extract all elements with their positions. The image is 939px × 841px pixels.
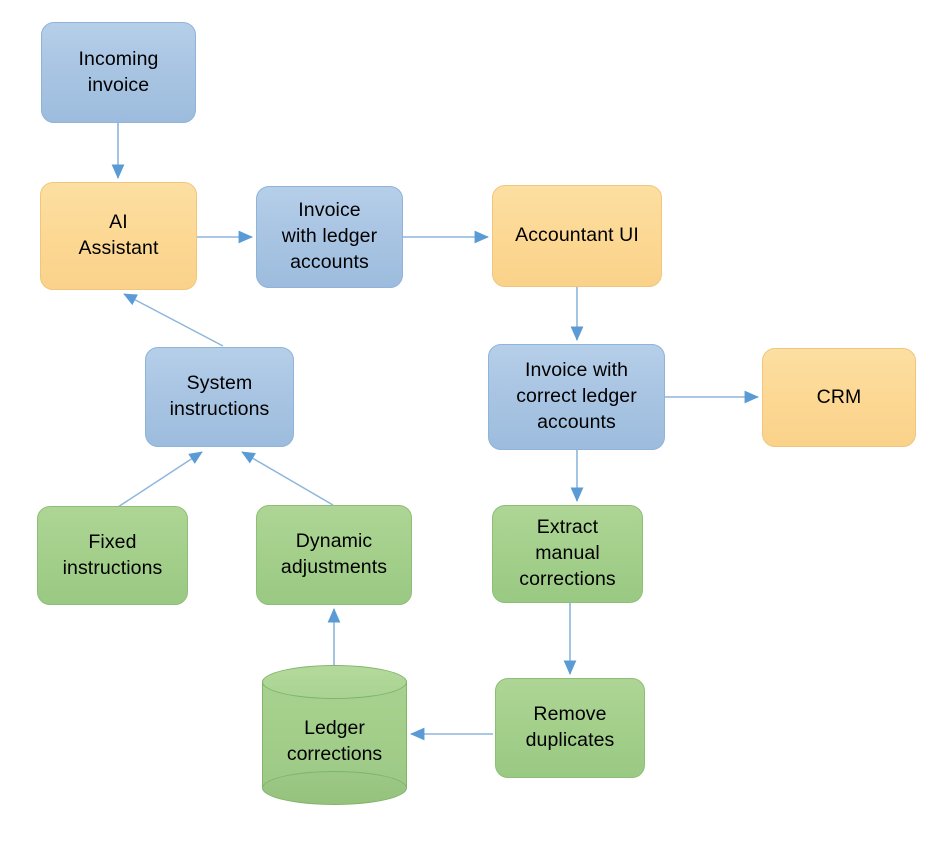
node-crm[interactable]: CRM — [762, 348, 916, 447]
flowchart-canvas: Incoming invoice AI Assistant Invoice wi… — [0, 0, 939, 841]
node-invoice-with-correct-ledger-accounts[interactable]: Invoice with correct ledger accounts — [488, 344, 665, 450]
node-ledger-corrections[interactable]: Ledger corrections — [262, 665, 407, 805]
node-incoming-invoice[interactable]: Incoming invoice — [41, 22, 196, 123]
node-fixed-instructions[interactable]: Fixed instructions — [37, 506, 188, 605]
node-invoice-with-ledger-accounts[interactable]: Invoice with ledger accounts — [256, 186, 403, 288]
edge-system-instructions-to-ai-assistant — [124, 294, 223, 346]
node-extract-manual-corrections[interactable]: Extract manual corrections — [492, 505, 643, 603]
node-system-instructions[interactable]: System instructions — [145, 347, 294, 447]
node-dynamic-adjustments[interactable]: Dynamic adjustments — [256, 505, 412, 605]
node-remove-duplicates[interactable]: Remove duplicates — [495, 678, 645, 778]
edge-fixed-instructions-to-system-instructions — [118, 452, 202, 507]
node-ai-assistant[interactable]: AI Assistant — [40, 182, 197, 290]
node-ledger-corrections-label: Ledger corrections — [262, 665, 407, 805]
node-accountant-ui[interactable]: Accountant UI — [492, 185, 662, 287]
edge-dynamic-adjustments-to-system-instructions — [242, 452, 333, 505]
